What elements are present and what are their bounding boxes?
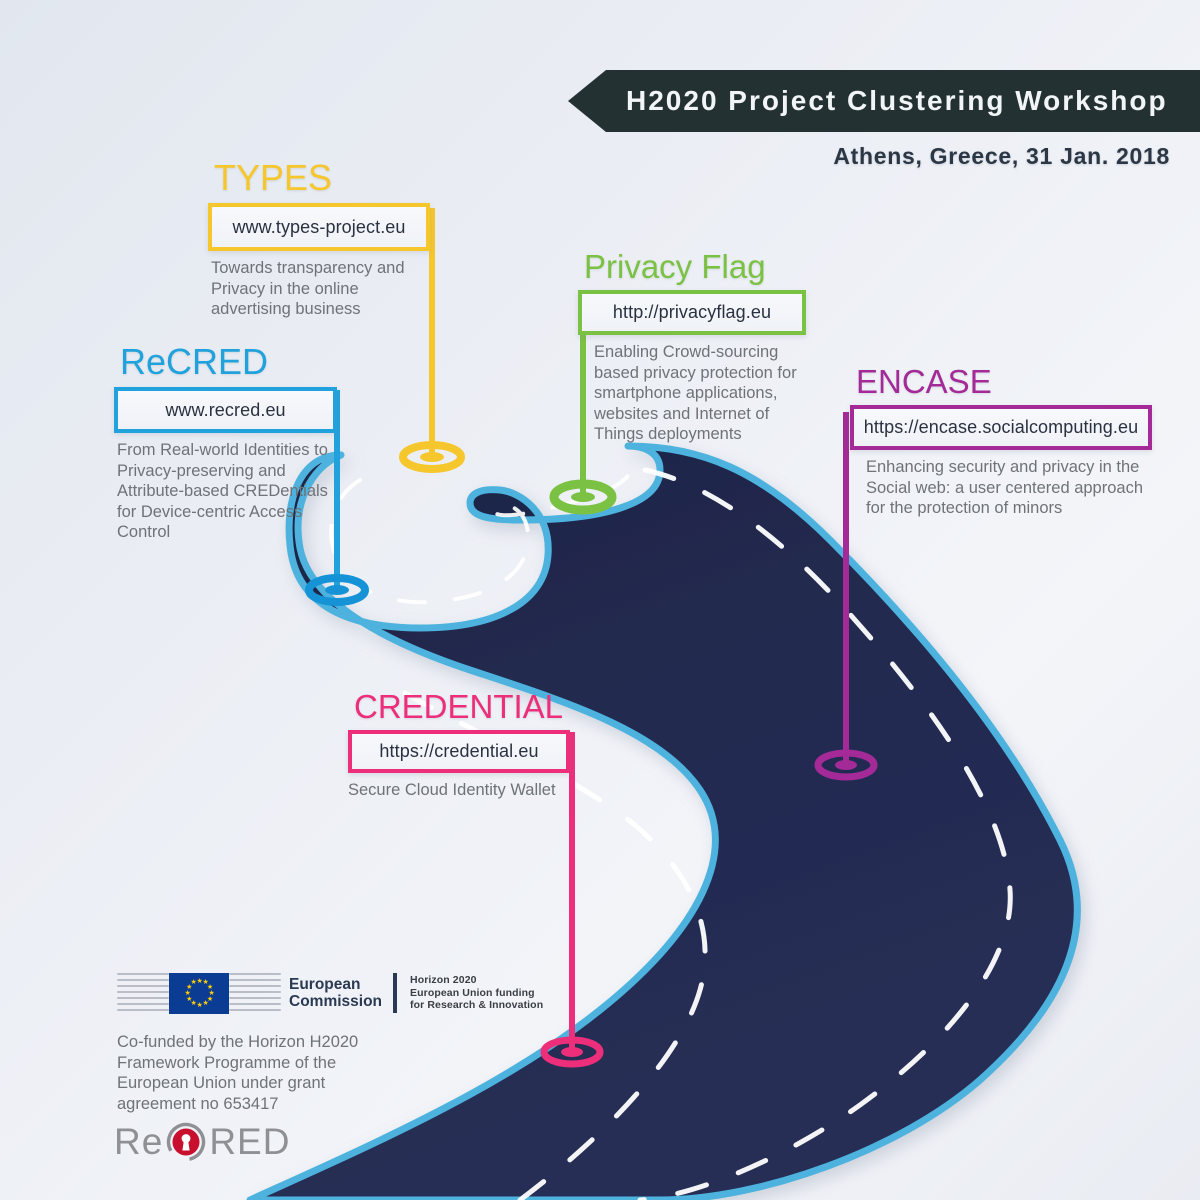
eu-star-icon: ★ xyxy=(209,991,214,996)
eu-flag-icon: ★★★★★★★★★★★★ xyxy=(169,973,229,1014)
eu-star-icon: ★ xyxy=(207,985,212,990)
project-url-box-types[interactable]: www.types-project.eu xyxy=(208,203,430,251)
project-url-credential: https://credential.eu xyxy=(379,741,538,762)
funding-statement: Co-funded by the Horizon H2020 Framework… xyxy=(117,1032,358,1114)
project-description-encase: Enhancing security and privacy in the So… xyxy=(866,457,1152,519)
eu-star-icon: ★ xyxy=(191,980,196,985)
horizon-2020-caption: Horizon 2020 European Union funding for … xyxy=(410,974,543,1012)
horizon-line-3: for Research & Innovation xyxy=(410,999,543,1012)
page-title: H2020 Project Clustering Workshop xyxy=(626,85,1168,117)
logo-divider xyxy=(393,973,397,1013)
eu-star-icon: ★ xyxy=(197,1003,202,1008)
project-description-privacy-flag: Enabling Crowd-sourcing based privacy pr… xyxy=(594,342,806,445)
european-commission-wordmark: European Commission xyxy=(289,976,382,1010)
eu-wave-right-icon xyxy=(229,969,281,1017)
road-marker-types[interactable] xyxy=(403,445,461,469)
eu-star-icon: ★ xyxy=(185,991,190,996)
event-location-date: Athens, Greece, 31 Jan. 2018 xyxy=(833,143,1170,170)
recred-keyhole-icon xyxy=(164,1120,208,1164)
infographic-canvas: H2020 Project Clustering Workshop Athens… xyxy=(0,0,1200,1200)
road-marker-recred[interactable] xyxy=(309,578,365,602)
project-card-privacy-flag: Privacy Flag http://privacyflag.eu Enabl… xyxy=(578,250,806,445)
recred-logo-prefix: Re xyxy=(114,1121,163,1163)
header-banner: H2020 Project Clustering Workshop xyxy=(568,70,1200,132)
recred-project-logo: Re RED xyxy=(114,1120,290,1164)
project-description-types: Towards transparency and Privacy in the … xyxy=(211,258,430,320)
road-marker-privacy-flag[interactable] xyxy=(554,484,612,510)
project-url-box-privacy-flag[interactable]: http://privacyflag.eu xyxy=(578,290,806,335)
project-card-recred: ReCRED www.recred.eu From Real-world Ide… xyxy=(114,344,337,543)
eu-commission-logo: ★★★★★★★★★★★★ European Commission Horizon… xyxy=(117,965,543,1021)
project-name-types: TYPES xyxy=(214,160,430,196)
project-url-recred: www.recred.eu xyxy=(165,400,285,421)
project-url-box-recred[interactable]: www.recred.eu xyxy=(114,387,337,433)
project-description-credential: Secure Cloud Identity Wallet xyxy=(348,780,570,801)
project-url-privacy-flag: http://privacyflag.eu xyxy=(613,302,771,323)
project-card-encase: ENCASE https://encase.socialcomputing.eu… xyxy=(850,365,1152,519)
project-url-box-encase[interactable]: https://encase.socialcomputing.eu xyxy=(850,405,1152,450)
eu-star-icon: ★ xyxy=(186,997,191,1002)
project-url-encase: https://encase.socialcomputing.eu xyxy=(864,417,1138,438)
project-card-credential: CREDENTIAL https://credential.eu Secure … xyxy=(348,690,570,801)
eu-wave-left-icon xyxy=(117,969,169,1017)
project-name-credential: CREDENTIAL xyxy=(354,690,570,723)
project-name-encase: ENCASE xyxy=(856,365,1152,398)
project-url-box-credential[interactable]: https://credential.eu xyxy=(348,730,570,773)
recred-logo-suffix: RED xyxy=(209,1121,290,1163)
project-card-types: TYPES www.types-project.eu Towards trans… xyxy=(208,160,430,320)
project-name-recred: ReCRED xyxy=(120,344,337,380)
eu-star-icon: ★ xyxy=(197,979,202,984)
eu-star-icon: ★ xyxy=(203,1001,208,1006)
horizon-line-1: Horizon 2020 xyxy=(410,974,543,987)
project-url-types: www.types-project.eu xyxy=(232,217,405,238)
ec-line-1: European xyxy=(289,976,382,993)
horizon-line-2: European Union funding xyxy=(410,987,543,1000)
ec-line-2: Commission xyxy=(289,993,382,1010)
project-name-privacy-flag: Privacy Flag xyxy=(584,250,806,283)
project-description-recred: From Real-world Identities to Privacy-pr… xyxy=(117,440,337,543)
